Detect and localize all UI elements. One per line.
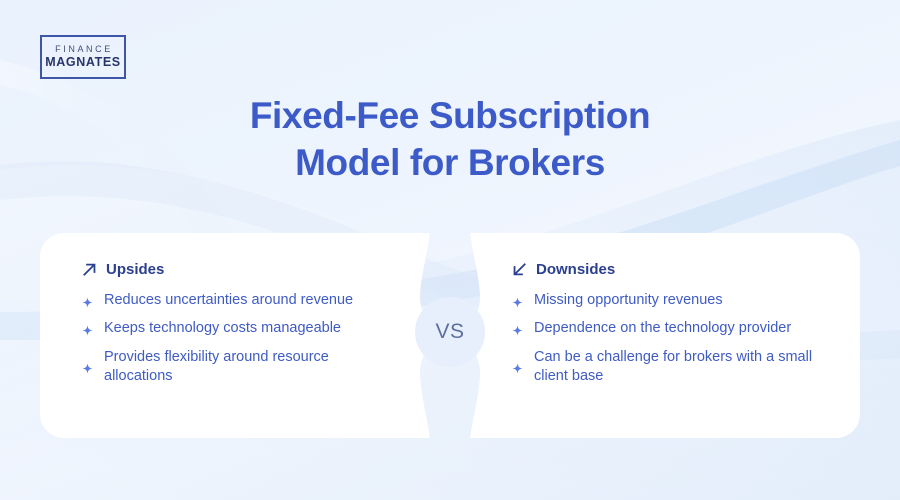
upsides-list: Reduces uncertainties around revenue Kee… [82,291,406,386]
page-title-line-2: Model for Brokers [0,139,900,186]
arrow-up-right-icon [82,262,97,277]
list-item: Keeps technology costs manageable [82,319,406,338]
list-item-text: Keeps technology costs manageable [104,319,341,338]
sparkle-bullet-icon [512,361,523,372]
downsides-card: Downsides Missing opportunity revenues [470,233,860,438]
brand-logo-line-1: FINANCE [53,44,113,55]
downsides-heading-label: Downsides [536,261,615,278]
list-item: Provides flexibility around resource all… [82,348,406,387]
sparkle-bullet-icon [82,323,93,334]
list-item-text: Missing opportunity revenues [534,291,723,310]
upsides-heading: Upsides [82,261,406,278]
arrow-down-left-icon [512,262,527,277]
page-title-line-1: Fixed-Fee Subscription [0,92,900,139]
list-item-text: Reduces uncertainties around revenue [104,291,353,310]
sparkle-bullet-icon [512,295,523,306]
list-item-text: Provides flexibility around resource all… [104,348,374,387]
versus-label: VS [435,320,464,344]
list-item: Missing opportunity revenues [512,291,842,310]
downsides-heading: Downsides [512,261,842,278]
brand-logo-line-2: MAGNATES [45,55,120,71]
list-item: Dependence on the technology provider [512,319,842,338]
list-item-text: Can be a challenge for brokers with a sm… [534,348,824,387]
list-item: Reduces uncertainties around revenue [82,291,406,310]
brand-logo[interactable]: FINANCE MAGNATES [40,35,126,79]
list-item-text: Dependence on the technology provider [534,319,791,338]
sparkle-bullet-icon [512,323,523,334]
upsides-heading-label: Upsides [106,261,164,278]
upsides-card: Upsides Reduces uncertainties around rev… [40,233,430,438]
infographic-canvas: FINANCE MAGNATES Fixed-Fee Subscription … [0,0,900,500]
page-title: Fixed-Fee Subscription Model for Brokers [0,92,900,187]
downsides-list: Missing opportunity revenues Dependence … [512,291,842,386]
list-item: Can be a challenge for brokers with a sm… [512,348,842,387]
sparkle-bullet-icon [82,295,93,306]
sparkle-bullet-icon [82,361,93,372]
versus-badge: VS [415,297,485,367]
